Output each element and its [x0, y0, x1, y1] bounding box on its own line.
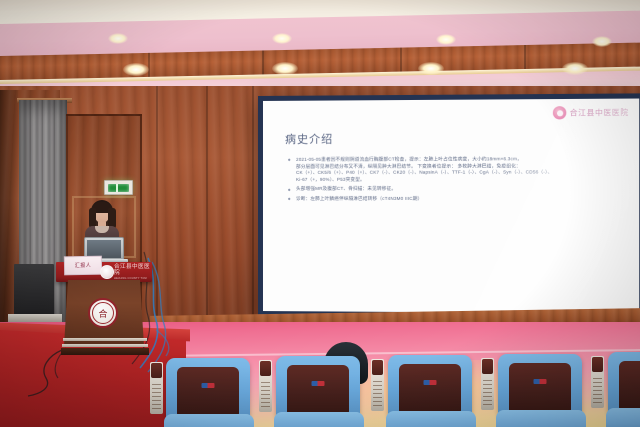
spotlight-icon: [418, 62, 444, 75]
slide-bullet-item: 2021-05-05患者因不规则阴道流血行胸腹部CT检查，提示：左肺上叶占位性病…: [287, 156, 625, 183]
list-item[interactable]: [388, 355, 472, 417]
hospital-logo: 合江县中医医院: [553, 106, 629, 120]
seat-cushion[interactable]: [606, 408, 640, 427]
hospital-logo-text: 合江县中医医院: [570, 107, 629, 119]
podium-emblem-glyph: 合: [92, 302, 114, 324]
seat-backrest-panel: [509, 363, 571, 415]
seat-armrest: [150, 362, 163, 414]
seat-armrest: [591, 356, 604, 408]
list-item[interactable]: [608, 352, 640, 414]
floor-speaker: [14, 264, 54, 316]
downlight-icon: [272, 33, 292, 44]
auditorium-scene: 合江县中医医院 病史介绍 2021-05-05患者因不规则阴道流血行胸腹部CT检…: [0, 0, 640, 427]
seat-logo-icon: [424, 380, 437, 385]
podium-nameplate: 汇报人: [64, 256, 102, 276]
seat-backrest-panel: [399, 364, 461, 416]
podium-emblem: 合: [88, 298, 118, 328]
bullet-line: 诊断：左肺上叶鳞癌伴纵隔淋巴结转移（cT4N3M0 IIIC期）: [296, 196, 625, 203]
presentation-slide: 合江县中医医院 病史介绍 2021-05-05患者因不规则阴道流血行胸腹部CT检…: [263, 99, 639, 314]
seat-cushion[interactable]: [386, 411, 476, 427]
downlight-icon: [108, 33, 128, 44]
seat-armrest: [371, 359, 384, 411]
list-item[interactable]: [166, 358, 250, 420]
seat-logo-icon: [312, 381, 325, 386]
podium-banner-main: 合江县中医医院: [114, 264, 150, 276]
list-item[interactable]: [498, 354, 582, 416]
spotlight-icon: [272, 62, 298, 75]
slide-title: 病史介绍: [285, 129, 625, 147]
seat-backrest-panel: [177, 367, 239, 419]
podium-trim-lower: [62, 344, 148, 347]
list-item[interactable]: [276, 356, 360, 418]
seat-logo-icon: [202, 383, 215, 388]
slide-bullet-list: 2021-05-05患者因不规则阴道流血行胸腹部CT检查，提示：左肺上叶占位性病…: [287, 156, 625, 203]
seat-cushion[interactable]: [164, 414, 254, 427]
seat-cushion[interactable]: [496, 410, 586, 427]
speaker-base: [8, 314, 62, 322]
bullet-line: Ki-67（+，90%）、P53突变型。: [296, 176, 625, 183]
projection-screen-surface: 合江县中医医院 病史介绍 2021-05-05患者因不规则阴道流血行胸腹部CT检…: [263, 99, 639, 314]
podium-base: [61, 348, 149, 355]
slide-bullet-item: 头部增强MR及腹部CT、骨扫描：未见转移征。: [287, 186, 625, 193]
bullet-line: 头部增强MR及腹部CT、骨扫描：未见转移征。: [296, 186, 625, 193]
spotlight-icon: [123, 63, 149, 76]
slide-bullet-item: 诊断：左肺上叶鳞癌伴纵隔淋巴结转移（cT4N3M0 IIIC期）: [287, 196, 625, 203]
seat-backrest-panel: [287, 365, 349, 417]
podium-trim-upper: [63, 338, 147, 341]
seat-backrest-panel: [619, 361, 640, 413]
seat-cushion[interactable]: [274, 412, 364, 427]
exit-sign: [104, 180, 133, 195]
podium-banner-emblem-icon: [100, 265, 114, 279]
downlight-icon: [436, 34, 456, 45]
downlight-icon: [592, 36, 612, 47]
hospital-logo-icon: [553, 106, 566, 119]
seat-armrest: [481, 358, 494, 410]
spotlight-icon: [562, 62, 588, 75]
projection-screen: 合江县中医医院 病史介绍 2021-05-05患者因不规则阴道流血行胸腹部CT检…: [258, 93, 640, 318]
seat-armrest: [259, 360, 272, 412]
running-man-icon: [108, 184, 129, 192]
seat-logo-icon: [534, 379, 547, 384]
